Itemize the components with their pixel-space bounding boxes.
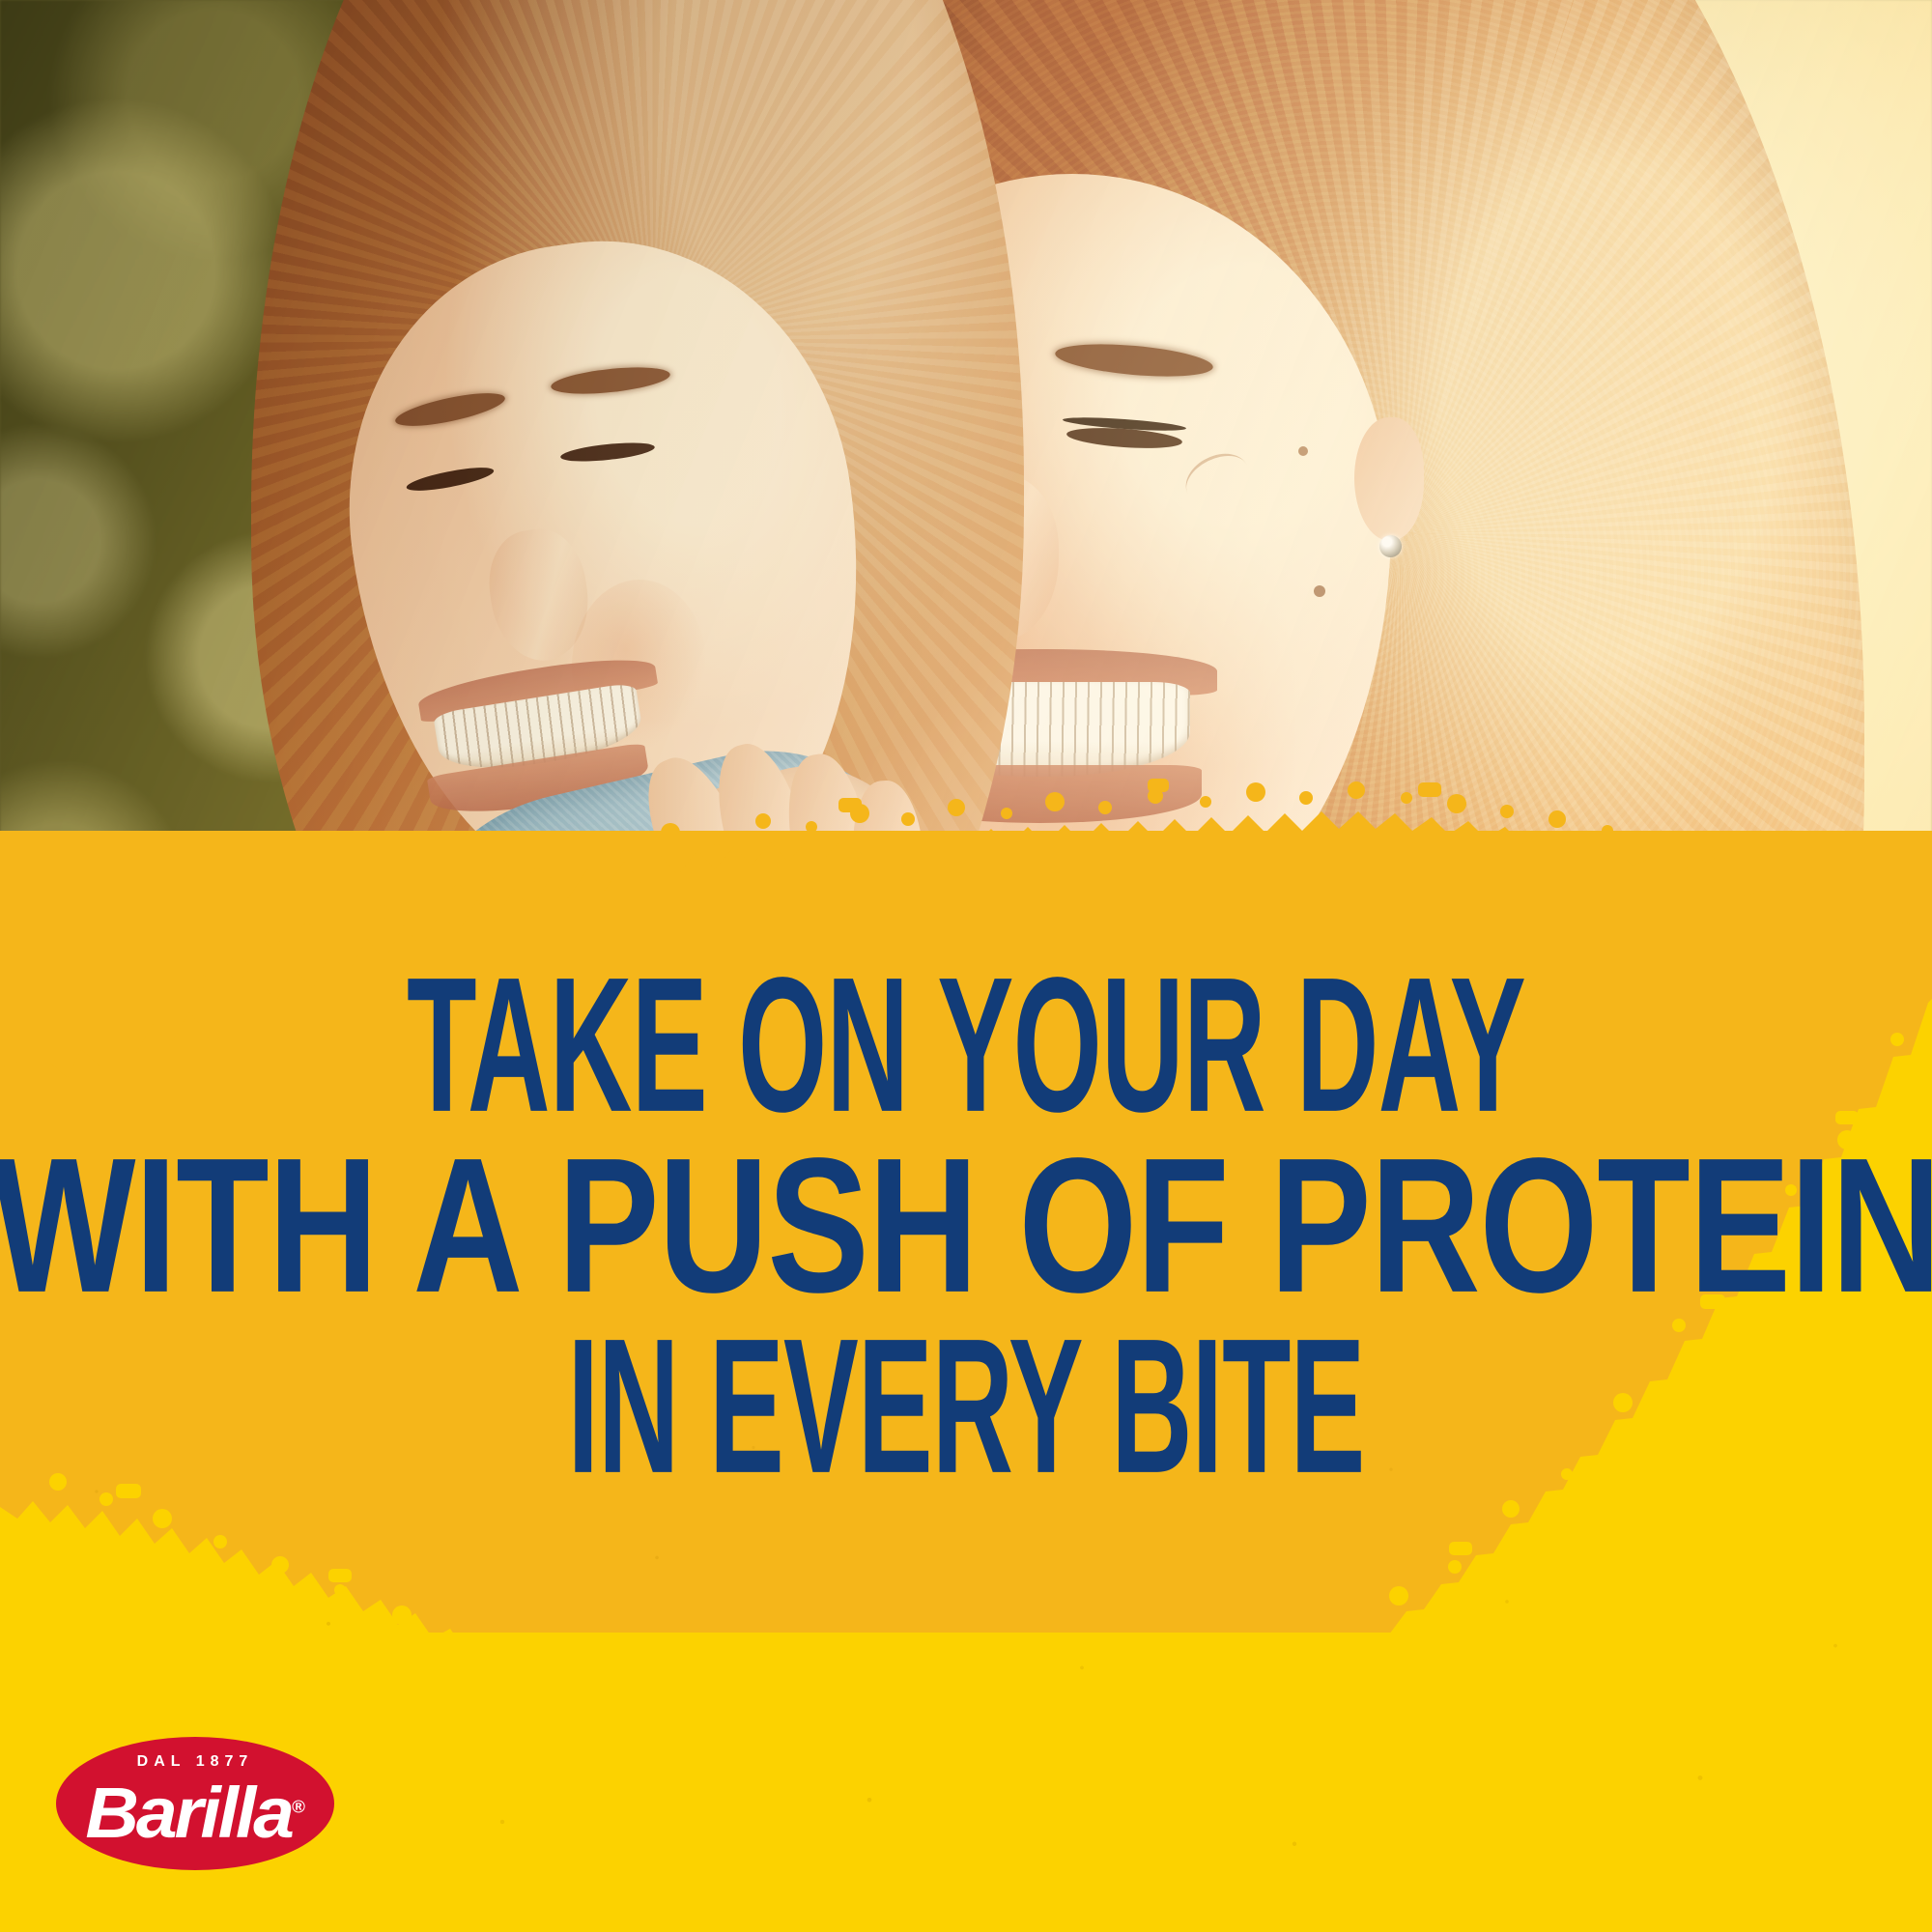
barilla-logo[interactable]: DAL 1877 Barilla® bbox=[56, 1737, 334, 1870]
barilla-advertisement: TAKE ON YOUR DAY WITH A PUSH OF PROTEIN … bbox=[0, 0, 1932, 1932]
logo-since-text: DAL 1877 bbox=[56, 1753, 334, 1771]
headline-line-1: TAKE ON YOUR DAY bbox=[135, 956, 1797, 1136]
logo-brand-name-text: Barilla bbox=[85, 1773, 291, 1853]
registered-trademark-icon: ® bbox=[292, 1797, 305, 1816]
headline-block: TAKE ON YOUR DAY WITH A PUSH OF PROTEIN … bbox=[0, 956, 1932, 1442]
logo-brand-name: Barilla® bbox=[50, 1772, 340, 1854]
headline-line-2: WITH A PUSH OF PROTEIN bbox=[0, 1137, 1932, 1317]
headline-line-3: IN EVERY BITE bbox=[150, 1318, 1782, 1497]
